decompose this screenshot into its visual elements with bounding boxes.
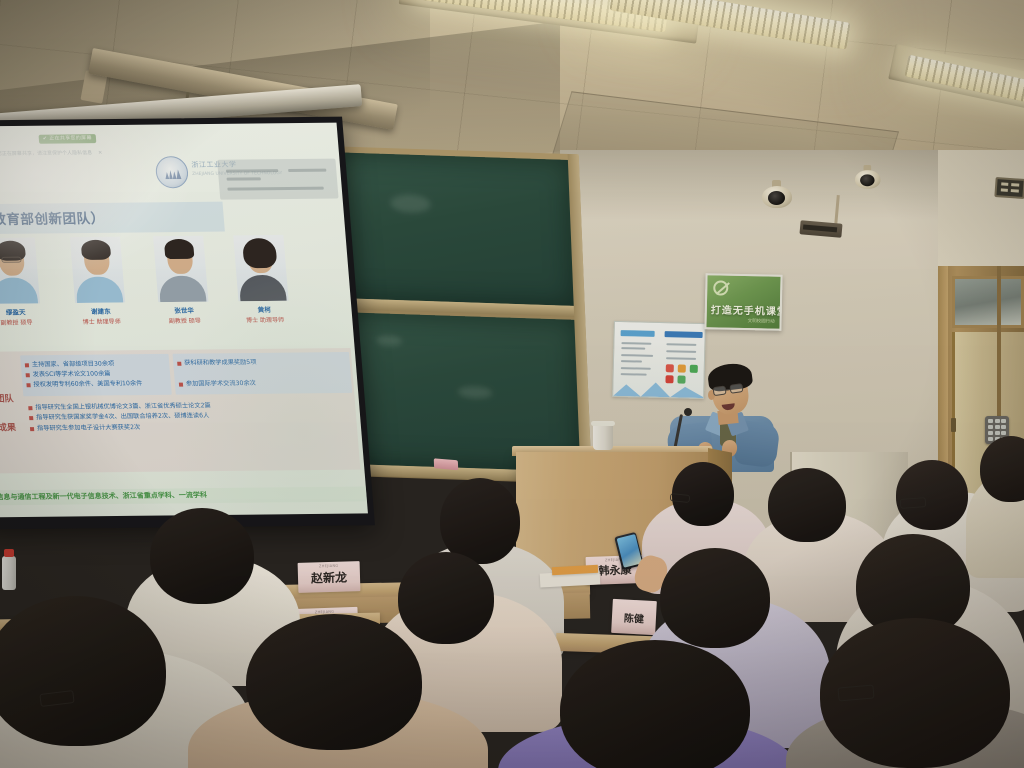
glasses-icon [1,257,22,263]
projection-screen: ✔正在共享您的屏幕 您正在屏幕共享，请注意保护个人隐私信息 ✕ 浙江工业大学 Z… [0,117,375,530]
audience-head [0,596,166,746]
results-item: 发表SCI等学术论文100余篇 [32,370,110,379]
water-bottle-icon [2,556,16,590]
bullet-icon [30,427,34,431]
close-icon[interactable]: ✕ [98,150,103,156]
wall-above-door [938,150,1024,268]
bullet-icon [26,383,30,387]
results-bottom-list: 指导研究生全国上银机械优博论文3篇、浙江省优秀硕士论文2篇 指导研究生获国家奖学… [24,396,356,437]
ceiling-indicator-sign [994,177,1024,199]
name-placard: ZHEJIANG 赵新龙 [298,561,361,593]
results-label-line-2: 成果 [0,420,16,433]
floating-video-overlay[interactable] [217,159,338,200]
microphone-icon [684,408,692,416]
audience-head [560,640,750,768]
check-icon: ✔ [43,136,48,142]
no-phone-icon [713,280,728,295]
no-phone-sign-text: 打造无手机课堂 [711,301,777,317]
no-phone-classroom-sign: 打造无手机课堂 文明校园行动 [704,273,782,331]
bullet-icon [29,416,33,420]
no-phone-sign-subtext: 文明校园行动 [748,318,775,325]
bullet-icon [179,383,183,387]
faculty-title: 博士 助理导师 [76,316,127,325]
results-column-left: 主持国家、省部级项目30余项 发表SCI等学术论文100余篇 授权发明专利60余… [20,354,172,396]
results-item: 指导研究生全国上银机械优博论文3篇、浙江省优秀硕士论文2篇 [35,402,211,412]
audience-head [398,552,494,644]
faculty-name: 缪盈天 [0,306,41,316]
placard-name: 赵新龙 [311,568,347,586]
door-window [952,276,1024,328]
presentation-slide: ✔正在共享您的屏幕 您正在屏幕共享，请注意保护个人隐私信息 ✕ 浙江工业大学 Z… [0,123,368,518]
faculty-card: 谢建东 博士 助理导师 [70,237,127,326]
bullet-icon [26,373,30,377]
bullet-icon [25,363,29,367]
door-hinge [951,418,956,432]
results-item: 指导研究生参加电子设计大赛获奖2次 [37,423,141,432]
audience-head [768,468,846,542]
slide-title: 理 （教育部创新团队） [0,205,240,228]
faculty-card: 黄柯 博士 助理导师 [233,235,290,324]
faculty-name: 谢建东 [75,305,126,315]
faculty-card: 缪盈天 副教授 硕导 [0,238,42,327]
paper-cup-lid [591,421,615,426]
audience-head [660,548,770,648]
slide-surface: ✔正在共享您的屏幕 您正在屏幕共享，请注意保护个人隐私信息 ✕ 浙江工业大学 Z… [0,123,368,518]
audience-head [440,478,520,564]
results-item: 指导研究生获国家奖学金4次、出国联合培养2次、硕博连读6人 [36,413,210,423]
bullet-icon [177,361,181,365]
audience-head [246,614,422,750]
results-label-line-1: 团队 [0,391,14,404]
audience-head [150,508,254,604]
faculty-name: 黄柯 [239,304,290,314]
faculty-card: 张世华 副教授 硕导 [153,236,210,325]
bullet-icon [28,406,32,410]
faculty-title: 博士 助理导师 [240,315,291,324]
name-placard: 陈健 [611,599,657,635]
eyeglasses-icon [900,497,927,509]
faculty-title: 副教授 硕导 [0,317,42,326]
results-item: 参加国际学术交流30余次 [186,380,257,388]
placard-subtext: ZHEJIANG [298,563,360,569]
faculty-name: 张世华 [159,305,210,315]
audience-head [896,460,968,530]
faculty-title: 副教授 硕导 [159,316,210,325]
results-column-right: 获科研和教学成果奖励5项 参加国际学术交流30余次 [173,352,353,394]
results-item: 授权发明专利60余件、美国专利10余件 [33,380,142,389]
team-results-box: 团队 成果 主持国家、省部级项目30余项 发表SCI等学术论文100余篇 授权发… [0,348,360,473]
results-item: 主持国家、省部级项目30余项 [32,360,115,369]
results-item: 获科研和教学成果奖励5项 [184,358,257,366]
paper-cup-icon [593,424,613,450]
chalk-eraser-icon [434,458,459,470]
chalkboard-panel-upper [328,152,574,306]
screen-share-badge: ✔正在共享您的屏幕 [39,134,97,144]
placard-name: 陈健 [624,609,645,625]
faculty-photo-row: 缪盈天 副教授 硕导 谢建东 博士 助理导师 张世华 副教授 硕导 [0,235,314,346]
lecture-hall-photo: ✔正在共享您的屏幕 您正在屏幕共享，请注意保护个人隐私信息 ✕ 浙江工业大学 Z… [0,0,1024,768]
screen-share-notice: 您正在屏幕共享，请注意保护个人隐私信息 [0,149,92,157]
